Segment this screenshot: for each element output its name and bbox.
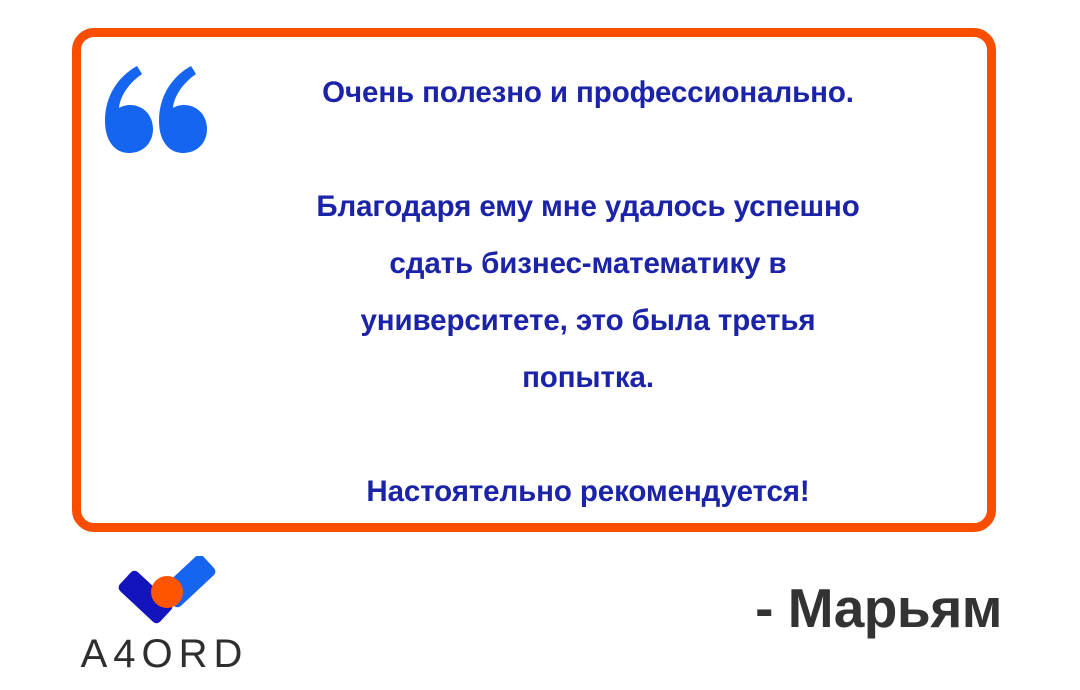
testimonial-paragraph-headline: Очень полезно и профессионально. xyxy=(209,65,967,122)
testimonial-line: Благодаря ему мне удалось успешно xyxy=(209,179,967,236)
attribution-name: - Марьям xyxy=(755,576,1002,640)
testimonial-line: сдать бизнес-математику в xyxy=(209,236,967,293)
testimonial-line: Настоятельно рекомендуется! xyxy=(209,464,967,521)
paragraph-spacer xyxy=(209,407,967,464)
testimonial-paragraph-recommendation: Настоятельно рекомендуется! xyxy=(209,464,967,521)
testimonial-line: университете, это была третья xyxy=(209,293,967,350)
testimonial-card: Очень полезно и профессионально. Благода… xyxy=(72,28,996,532)
footer: A4ORD - Марьям xyxy=(0,548,1080,690)
testimonial-line: попытка. xyxy=(209,350,967,407)
paragraph-spacer xyxy=(209,122,967,179)
brand-wordmark: A4ORD xyxy=(62,632,267,677)
testimonial-paragraph-story: Благодаря ему мне удалось успешно сдать … xyxy=(209,179,967,407)
testimonial-text: Очень полезно и профессионально. Благода… xyxy=(209,65,967,521)
brand-logo: A4ORD xyxy=(62,556,267,688)
checkmark-logo-icon xyxy=(112,556,222,628)
testimonial-line: Очень полезно и профессионально. xyxy=(209,65,967,122)
quote-open-icon xyxy=(93,59,213,169)
